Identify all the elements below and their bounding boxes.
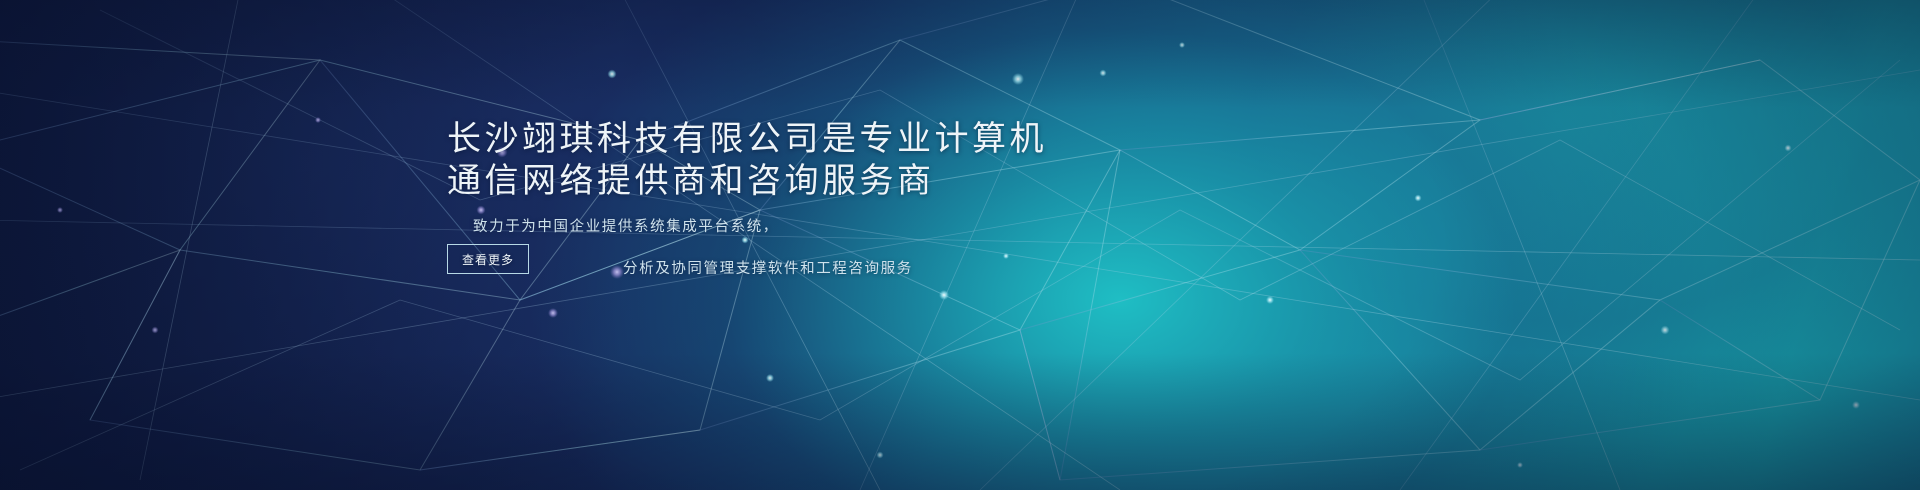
- headline-line-2: 通信网络提供商和咨询服务商: [447, 162, 1347, 202]
- view-more-button[interactable]: 查看更多: [447, 244, 529, 274]
- subtext-line-2: 分析及协同管理支撑软件和工程咨询服务: [623, 258, 1347, 280]
- hero-banner: 长沙翊琪科技有限公司是专业计算机 通信网络提供商和咨询服务商 致力于为中国企业提…: [0, 0, 1920, 490]
- hero-subtext: 致力于为中国企业提供系统集成平台系统， 分析及协同管理支撑软件和工程咨询服务: [447, 216, 1347, 280]
- headline-line-1: 长沙翊琪科技有限公司是专业计算机: [447, 120, 1347, 160]
- hero-content: 长沙翊琪科技有限公司是专业计算机 通信网络提供商和咨询服务商 致力于为中国企业提…: [447, 120, 1347, 280]
- subtext-line-1: 致力于为中国企业提供系统集成平台系统，: [473, 216, 1347, 238]
